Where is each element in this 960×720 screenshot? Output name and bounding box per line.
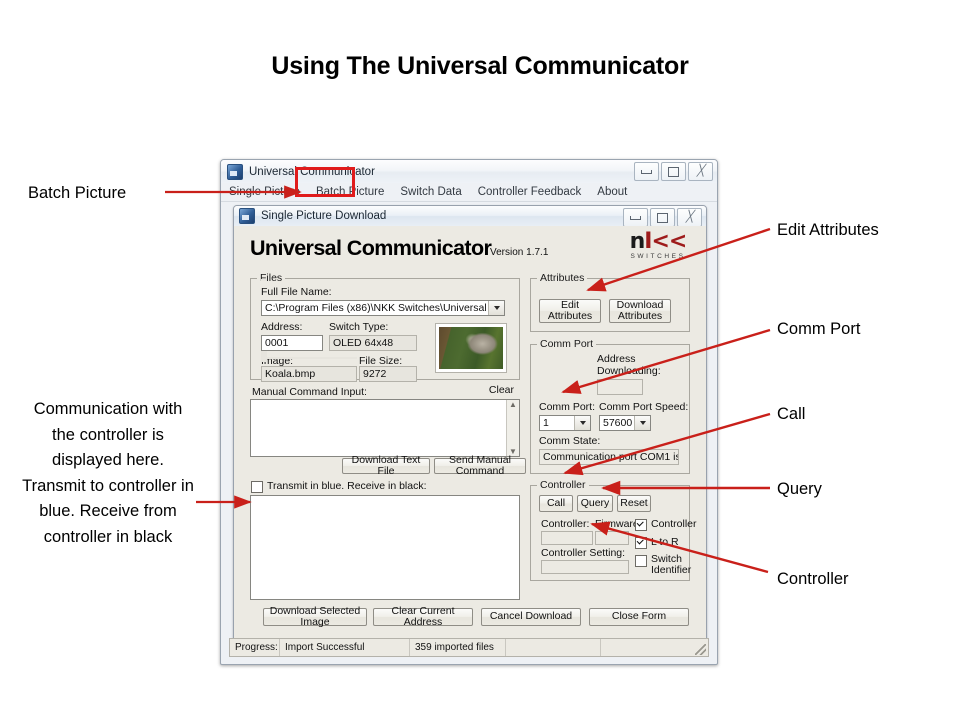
annotation-controller: Controller (777, 567, 849, 592)
address-value: 0001 (265, 337, 288, 349)
comm-port-label: Comm Port: (539, 401, 595, 413)
controller-checkbox-box[interactable] (635, 519, 647, 531)
comm-port-speed-label: Comm Port Speed: (599, 401, 688, 413)
inner-caption-buttons: ╳ (623, 208, 702, 227)
manual-command-label: Manual Command Input: (252, 386, 367, 398)
progress-message: Import Successful (280, 639, 410, 656)
address-downloading-label: Address Downloading: (597, 353, 671, 377)
inner-close-button[interactable]: ╳ (677, 208, 702, 227)
comm-port-speed-select[interactable]: 57600 (599, 415, 651, 431)
chevron-down-icon[interactable] (634, 416, 650, 430)
inner-minimize-button[interactable] (623, 208, 648, 227)
status-cell-5 (601, 639, 708, 656)
controller-group: Controller Call Query Reset Controller: … (530, 485, 690, 581)
menu-item-single-picture[interactable]: Single Picture (229, 186, 300, 198)
nkk-logo-subtitle: SWITCHES (622, 253, 694, 260)
chevron-down-icon[interactable] (488, 301, 504, 315)
app-icon (227, 164, 243, 180)
files-group: Files Full File Name: C:\Program Files (… (250, 278, 520, 380)
koala-thumbnail (435, 323, 507, 373)
resize-grip-icon[interactable] (695, 644, 706, 655)
attributes-group: Attributes Edit Attributes Download Attr… (530, 278, 690, 332)
comm-port-group-title: Comm Port (537, 338, 596, 350)
inner-title-bar: Single Picture Download ╳ (234, 206, 706, 226)
annotation-batch-picture: Batch Picture (28, 181, 126, 206)
full-file-name-label: Full File Name: (261, 286, 332, 298)
firmware-value-field (595, 531, 629, 545)
download-text-file-button[interactable]: Download Text File (342, 458, 430, 474)
call-button[interactable]: Call (539, 495, 573, 512)
switch-type-label: Switch Type: (329, 321, 388, 333)
l-to-r-checkbox-box[interactable] (635, 537, 647, 549)
switch-identifier-checkbox-box[interactable] (635, 555, 647, 567)
controller-value-field (541, 531, 593, 545)
app-version: Version 1.7.1 (490, 247, 548, 258)
controller-group-title: Controller (537, 479, 589, 491)
progress-label: Progress: (230, 639, 280, 656)
comm-port-speed-value: 57600 (600, 417, 634, 429)
switch-identifier-checkbox-label: Switch Identifier (651, 554, 691, 576)
annotation-edit-attributes: Edit Attributes (777, 218, 879, 243)
l-to-r-checkbox-label: L to R (651, 536, 679, 548)
address-downloading-field (597, 379, 643, 395)
files-group-title: Files (257, 272, 285, 284)
chevron-down-icon[interactable] (574, 416, 590, 430)
close-button[interactable]: ╳ (688, 162, 713, 181)
menu-item-switch-data[interactable]: Switch Data (400, 186, 461, 198)
cancel-download-button[interactable]: Cancel Download (481, 608, 581, 626)
batch-picture-highlight-box (295, 167, 355, 197)
file-size-field: 9272 (359, 366, 417, 382)
edit-attributes-button[interactable]: Edit Attributes (539, 299, 601, 323)
single-picture-download-window: Single Picture Download ╳ Universal Comm… (233, 205, 707, 654)
query-button[interactable]: Query (577, 495, 613, 512)
inner-app-icon (239, 208, 255, 224)
image-value: Koala.bmp (265, 368, 315, 380)
maximize-button[interactable] (661, 162, 686, 181)
address-input[interactable]: 0001 (261, 335, 323, 351)
download-selected-image-button[interactable]: Download Selected Image (263, 608, 367, 626)
controller-checkbox-label: Controller (651, 518, 697, 530)
manual-command-input[interactable]: ▲ ▼ (250, 399, 520, 457)
annotation-comm-port: Comm Port (777, 317, 860, 342)
comm-state-field: Communication port COM1 is open. (539, 449, 679, 465)
address-label: Address: (261, 321, 302, 333)
comm-state-label: Comm State: (539, 435, 600, 447)
send-manual-command-button[interactable]: Send Manual Command (434, 458, 526, 474)
minimize-button[interactable] (634, 162, 659, 181)
file-size-value: 9272 (363, 368, 386, 380)
inner-window-body: Universal Communicator Version 1.7.1 nI<… (234, 226, 706, 653)
reset-button[interactable]: Reset (617, 495, 651, 512)
annotation-query: Query (777, 477, 822, 502)
comm-state-value: Communication port COM1 is open. (543, 451, 679, 463)
clear-button[interactable]: Clear (480, 384, 514, 397)
annotation-communication-paragraph: Communication with the controller is dis… (20, 397, 196, 550)
annotation-call: Call (777, 402, 805, 427)
comm-port-group: Comm Port Address Downloading: Comm Port… (530, 344, 690, 474)
transmit-checkbox-label: Transmit in blue. Receive in black: (267, 480, 427, 492)
switch-type-field: OLED 64x48 (329, 335, 417, 351)
communication-log[interactable] (250, 495, 520, 600)
scroll-up-icon[interactable]: ▲ (509, 400, 517, 409)
inner-maximize-button[interactable] (650, 208, 675, 227)
switch-identifier-checkbox[interactable]: Switch Identifier (635, 554, 685, 576)
nkk-logo-mark: nI<< (622, 232, 694, 252)
imported-files-count: 359 imported files (410, 639, 506, 656)
controller-field-label: Controller: (541, 518, 589, 530)
clear-current-address-button[interactable]: Clear Current Address (373, 608, 473, 626)
close-form-button[interactable]: Close Form (589, 608, 689, 626)
status-cell-4 (506, 639, 601, 656)
page-title: Using The Universal Communicator (0, 52, 960, 81)
status-bar: Progress: Import Successful 359 imported… (229, 638, 709, 657)
manual-command-scrollbar[interactable]: ▲ ▼ (506, 400, 519, 456)
attributes-group-title: Attributes (537, 272, 587, 284)
menu-item-about[interactable]: About (597, 186, 627, 198)
image-field: Koala.bmp (261, 366, 357, 382)
universal-communicator-window: Universal Communicator ╳ Single Picture … (220, 159, 718, 665)
nkk-logo: nI<< SWITCHES (622, 232, 694, 260)
switch-type-value: OLED 64x48 (333, 337, 393, 349)
controller-checkbox[interactable]: Controller (635, 518, 697, 531)
outer-caption-buttons: ╳ (634, 162, 713, 181)
app-heading: Universal Communicator (250, 236, 491, 261)
transmit-checkbox-box[interactable] (251, 481, 263, 493)
download-attributes-button[interactable]: Download Attributes (609, 299, 671, 323)
controller-setting-field (541, 560, 629, 574)
koala-image (439, 327, 503, 369)
comm-port-select[interactable]: 1 (539, 415, 591, 431)
l-to-r-checkbox[interactable]: L to R (635, 536, 679, 549)
controller-setting-label: Controller Setting: (541, 547, 625, 559)
comm-port-value: 1 (540, 417, 574, 429)
full-file-name-value: C:\Program Files (x86)\NKK Switches\Univ… (262, 302, 488, 314)
full-file-name-combo[interactable]: C:\Program Files (x86)\NKK Switches\Univ… (261, 300, 505, 316)
inner-window-title: Single Picture Download (261, 210, 386, 222)
transmit-in-blue-checkbox[interactable]: Transmit in blue. Receive in black: (251, 480, 427, 493)
main-menu-bar: Single Picture Batch Picture Switch Data… (221, 183, 717, 202)
menu-item-controller-feedback[interactable]: Controller Feedback (478, 186, 582, 198)
